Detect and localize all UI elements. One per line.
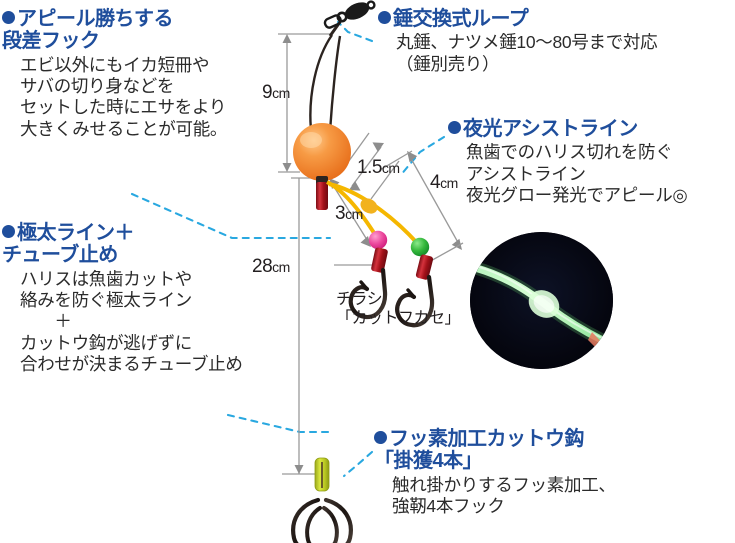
cuttou-prong-inner-left [307, 508, 320, 543]
callout-loop: 錘交換式ループ 丸錘、ナツメ錘10〜80号まで対応 （錘別売り） [378, 8, 730, 75]
dimension-value: 3 [335, 203, 345, 224]
bullet-icon [2, 11, 15, 24]
glow-photo-svg [470, 232, 613, 369]
callout-gokuboso-title: 極太ライン＋ チューブ止め [2, 222, 254, 267]
callout-loop-title-text: 錘交換式ループ [393, 8, 528, 30]
dimension-label-3cm: 3cm [335, 203, 363, 225]
callout-fusso-title-text: フッ素加工カットウ鈎 「掛獲4本」 [374, 428, 584, 472]
dimension-value: 1.5 [357, 157, 382, 178]
callout-fusso-body: 触れ掛かりするフッ素加工、 強靭4本フック [392, 475, 730, 518]
callout-yakou: 夜光アシストライン 魚歯でのハリス切れを防ぐ アシストライン 夜光グロー発光でア… [448, 118, 735, 206]
red-tube-pink [371, 247, 389, 273]
dimension-unit: cm [440, 175, 458, 191]
callout-yakou-body: 魚歯でのハリス切れを防ぐ アシストライン 夜光グロー発光でアピール◎ [466, 142, 735, 206]
callout-loop-title: 錘交換式ループ [378, 8, 730, 30]
green-bead [411, 238, 429, 256]
leader-loop [338, 22, 372, 41]
dimension-value: 28 [252, 256, 272, 277]
callout-gokuboso-title-text: 極太ライン＋ チューブ止め [2, 222, 134, 266]
dimension-label-1_5cm: 1.5cm [357, 157, 400, 179]
dimension-value: 4 [430, 172, 440, 193]
glow-line-photo [470, 232, 613, 369]
leader-gokuboso [228, 415, 332, 432]
dimension-label-28cm: 28cm [252, 256, 290, 278]
bullet-icon [2, 225, 15, 238]
orange-bead-group [293, 123, 351, 181]
callout-danshaku: アピール勝ちする 段差フック エビ以外にもイカ短冊や サバの切り身などを セット… [2, 8, 254, 140]
callout-danshaku-title: アピール勝ちする 段差フック [2, 8, 254, 53]
label-chirashi: チラシ 「カットフカセ」 [336, 291, 456, 329]
orange-bead [293, 123, 351, 181]
dimension-value: 9 [262, 82, 272, 103]
callout-fusso: フッ素加工カットウ鈎 「掛獲4本」 触れ掛かりするフッ素加工、 強靭4本フック [374, 428, 730, 517]
bullet-icon [374, 431, 387, 444]
dimension-unit: cm [272, 85, 290, 101]
callout-yakou-title-text: 夜光アシストライン [463, 118, 638, 140]
leader-fusso [344, 452, 372, 476]
orange-bead-highlight [300, 132, 322, 148]
dimension-unit: cm [272, 259, 290, 275]
dimension-label-4cm: 4cm [430, 172, 458, 194]
callout-loop-body: 丸錘、ナツメ錘10〜80号まで対応 （錘別売り） [396, 32, 730, 75]
cuttou-hook-assembly [293, 458, 351, 543]
callout-danshaku-body: エビ以外にもイカ短冊や サバの切り身などを セットした時にエサをより 大きくみせ… [20, 55, 254, 140]
dimension-unit: cm [382, 160, 400, 176]
dimension-unit: cm [345, 206, 363, 222]
callout-gokuboso: 極太ライン＋ チューブ止め ハリスは魚歯カットや 絡みを防ぐ極太ライン ＋ カッ… [2, 222, 254, 376]
dimension-label-9cm: 9cm [262, 82, 290, 104]
diagram-root: アピール勝ちする 段差フック エビ以外にもイカ短冊や サバの切り身などを セット… [0, 0, 735, 543]
cuttou-prong-inner-right [324, 508, 337, 543]
callout-fusso-title: フッ素加工カットウ鈎 「掛獲4本」 [374, 428, 730, 473]
leader-yakou [400, 137, 444, 176]
bullet-icon [378, 11, 391, 24]
red-tube-upper [316, 176, 328, 210]
red-tube-body [316, 182, 328, 210]
swivel-eye-top [368, 2, 375, 9]
callout-yakou-title: 夜光アシストライン [448, 118, 735, 140]
pink-bead [369, 231, 387, 249]
dimension-guides [278, 34, 463, 474]
bullet-icon [448, 121, 461, 134]
callout-danshaku-title-text: アピール勝ちする 段差フック [2, 8, 173, 52]
callout-gokuboso-body: ハリスは魚歯カットや 絡みを防ぐ極太ライン ＋ カットウ鈎が逃げずに 合わせが決… [20, 269, 254, 376]
